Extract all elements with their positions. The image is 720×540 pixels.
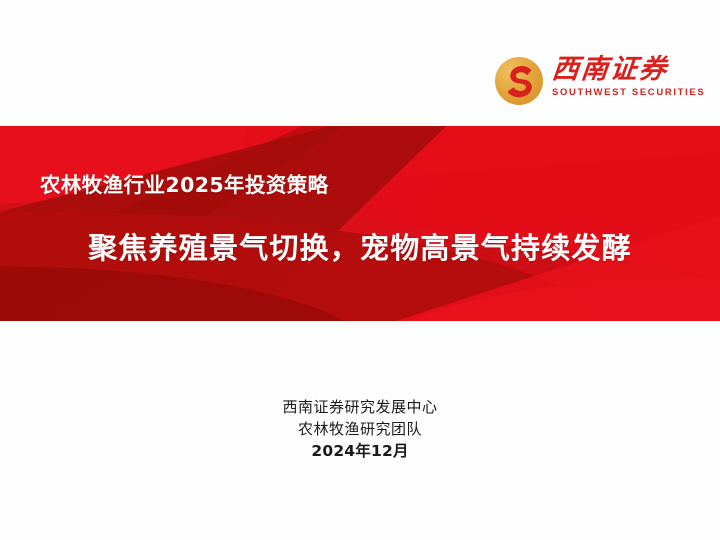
- footer-institution: 西南证券研究发展中心: [0, 396, 720, 418]
- logo-chinese-name: 西南证券: [551, 56, 707, 84]
- footer-date: 2024年12月: [0, 440, 720, 462]
- footer-block: 西南证券研究发展中心 农林牧渔研究团队 2024年12月: [0, 396, 720, 462]
- logo-english-name: SOUTHWEST SECURITIES: [552, 88, 705, 98]
- report-subtitle: 农林牧渔行业2025年投资策略: [40, 168, 329, 198]
- footer-team: 农林牧渔研究团队: [0, 418, 720, 440]
- presentation-slide: 西南证券 SOUTHWEST SECURITIES 农林牧渔行业2025年投资策…: [0, 0, 720, 540]
- company-logo: 西南证券 SOUTHWEST SECURITIES: [495, 55, 695, 115]
- logo-wordmark: 西南证券 SOUTHWEST SECURITIES: [552, 55, 705, 98]
- title-banner: [0, 126, 720, 321]
- logo-swirl-icon: [495, 57, 543, 105]
- report-headline: 聚焦养殖景气切换，宠物高景气持续发酵: [0, 225, 720, 267]
- southwest-securities-logo-mark-icon: [495, 57, 543, 105]
